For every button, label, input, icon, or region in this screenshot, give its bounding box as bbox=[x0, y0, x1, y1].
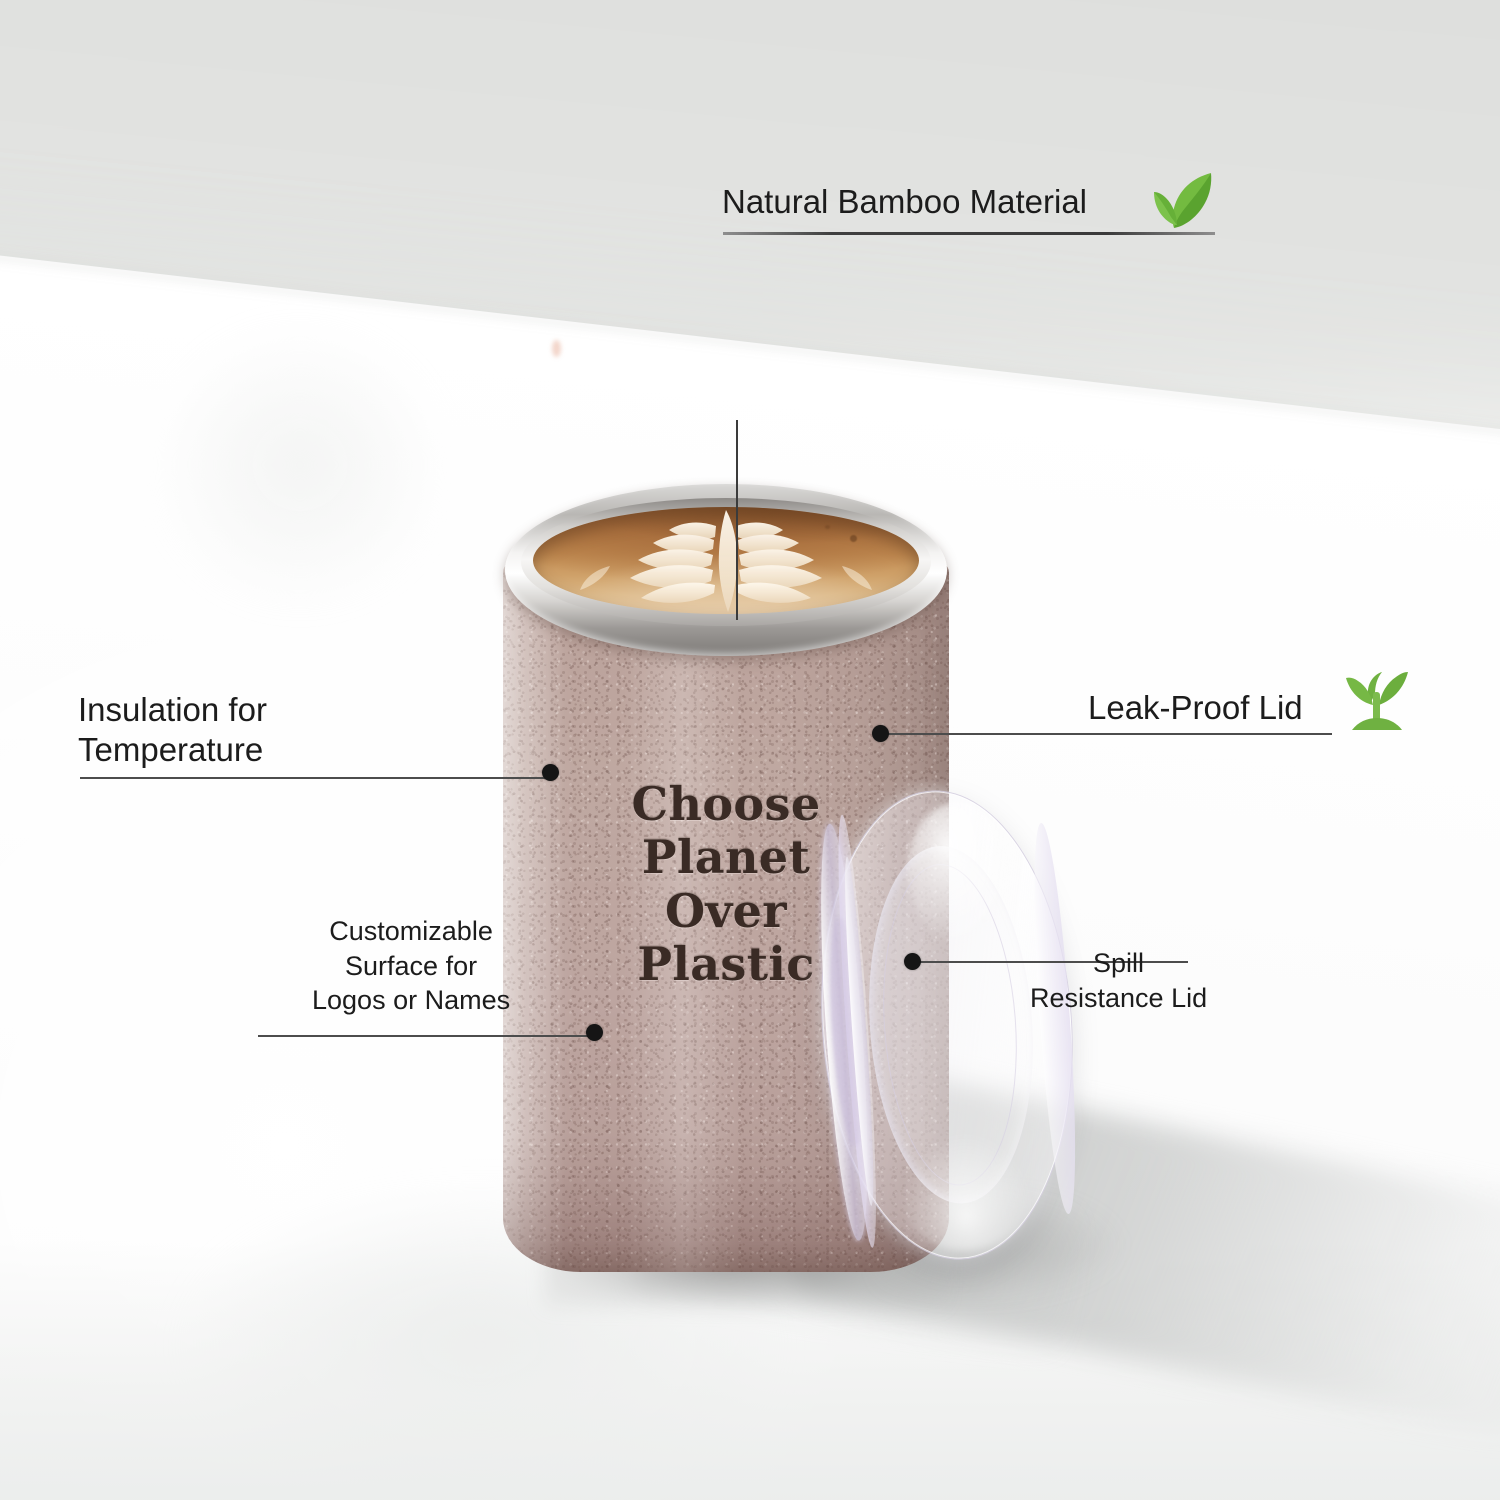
callout-line: Natural Bamboo Material bbox=[722, 182, 1087, 222]
callout-anchor-dot-spill-resistance-lid bbox=[904, 953, 921, 970]
leaf-icon bbox=[1148, 170, 1220, 232]
product-infographic: Choose Planet Over Plastic bbox=[0, 0, 1500, 1500]
callout-anchor-dot-customizable-surface bbox=[586, 1024, 603, 1041]
callout-line: Temperature bbox=[78, 730, 267, 770]
callout-line: Surface for bbox=[312, 949, 510, 984]
callout-line: Insulation for bbox=[78, 690, 267, 730]
warm-lens-speck bbox=[552, 340, 561, 357]
callout-underline-customizable-surface bbox=[258, 1035, 592, 1037]
callout-label-customizable-surface: Customizable Surface for Logos or Names bbox=[312, 914, 510, 1018]
callout-line: Resistance Lid bbox=[1030, 981, 1207, 1016]
callout-label-spill-resistance-lid: Spill Resistance Lid bbox=[1030, 946, 1207, 1015]
callout-label-insulation-for-temperature: Insulation for Temperature bbox=[78, 690, 267, 771]
callout-line: Leak-Proof Lid bbox=[1088, 688, 1303, 728]
sprout-icon bbox=[1342, 664, 1412, 738]
callout-underline-natural-bamboo-material bbox=[723, 232, 1215, 235]
latte-art-rosetta-icon bbox=[576, 507, 876, 614]
callout-anchor-dot-insulation-for-temperature bbox=[542, 764, 559, 781]
callout-line: Spill bbox=[1030, 946, 1207, 981]
callout-line: Logos or Names bbox=[312, 983, 510, 1018]
callout-underline-leak-proof-lid bbox=[888, 733, 1332, 735]
callout-line: Customizable bbox=[312, 914, 510, 949]
callout-anchor-dot-leak-proof-lid bbox=[872, 725, 889, 742]
coffee-surface bbox=[533, 507, 919, 614]
callout-label-natural-bamboo-material: Natural Bamboo Material bbox=[722, 182, 1087, 222]
clear-plastic-lid[interactable] bbox=[806, 782, 1088, 1268]
leader-line-natural-bamboo-material bbox=[736, 420, 738, 620]
tumbler-chrome-rim bbox=[505, 484, 947, 656]
wall-reflection-blob bbox=[150, 320, 450, 610]
callout-label-leak-proof-lid: Leak-Proof Lid bbox=[1088, 688, 1303, 728]
callout-underline-insulation-for-temperature bbox=[80, 777, 548, 779]
